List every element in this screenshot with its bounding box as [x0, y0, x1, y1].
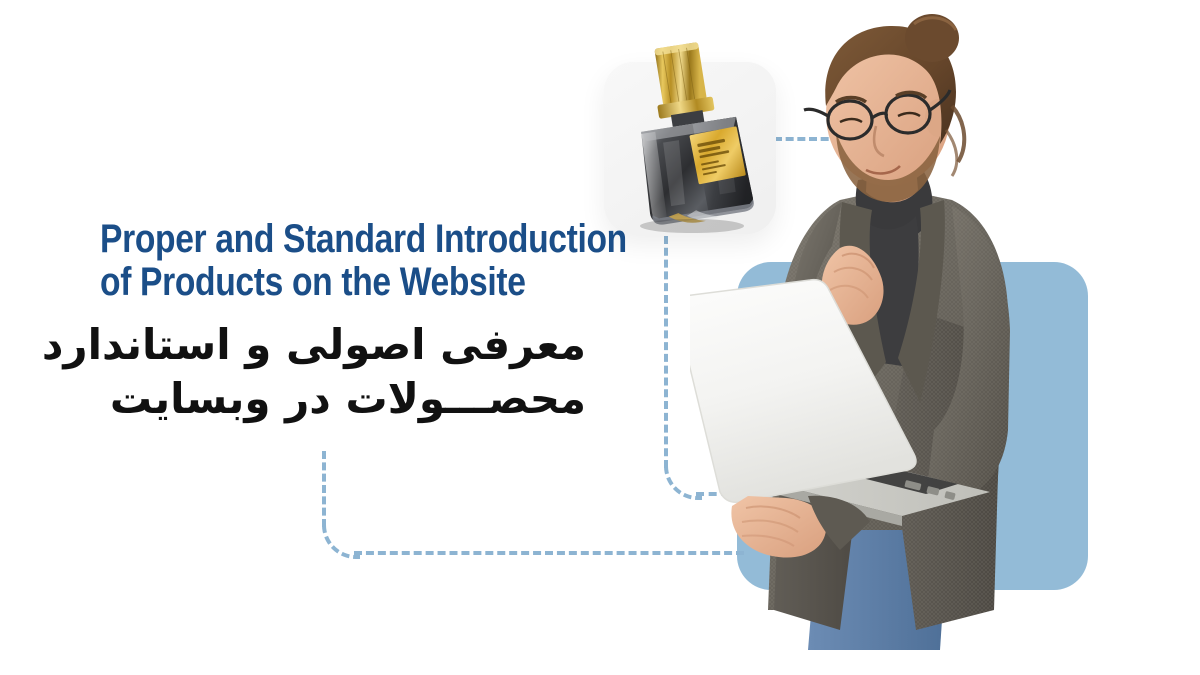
banner-canvas: Proper and Standard Introduction of Prod… — [0, 0, 1200, 675]
headline-english-line-2: of Products on the Website — [100, 261, 508, 304]
perfume-bottle-icon — [618, 26, 768, 242]
product-card-perfume[interactable] — [604, 62, 776, 234]
dashed-connector-text-horizontal — [354, 551, 744, 555]
headline-block: Proper and Standard Introduction of Prod… — [100, 218, 586, 426]
headline-persian-line-2: محصـــولات در وبسایت — [100, 372, 586, 426]
bottle-label — [689, 126, 746, 184]
bottle-shadow — [640, 219, 744, 233]
headline-english: Proper and Standard Introduction of Prod… — [100, 218, 508, 304]
headline-persian: معرفی اصولی و استاندارد محصـــولات در وب… — [100, 304, 586, 426]
dashed-connector-text-vertical — [322, 451, 326, 527]
hair-bun — [905, 14, 959, 62]
headline-persian-line-1: معرفی اصولی و استاندارد — [100, 318, 586, 372]
dashed-connector-card-vertical — [664, 236, 668, 468]
hair-strand — [952, 106, 964, 162]
headline-english-line-1: Proper and Standard Introduction — [100, 218, 508, 261]
